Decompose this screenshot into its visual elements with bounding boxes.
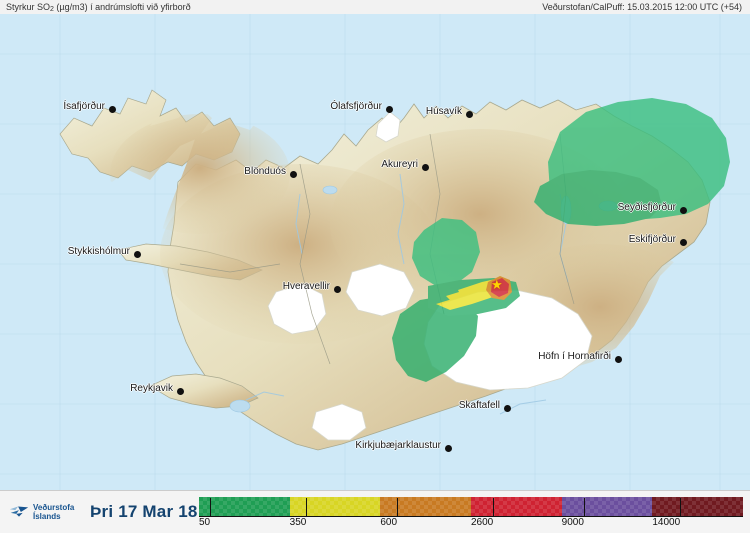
city-dot-icon <box>504 405 511 412</box>
so2-color-scale[interactable]: 503506002600900014000 <box>199 497 743 529</box>
city-label: Blönduós <box>244 166 286 177</box>
city-label: Reykjavik <box>130 383 173 394</box>
city-dot-icon <box>109 106 116 113</box>
city-dot-icon <box>386 106 393 113</box>
color-scale-axis: 503506002600900014000 <box>199 516 743 530</box>
model-run-info: Veðurstofan/CalPuff: 15.03.2015 12:00 UT… <box>542 0 742 14</box>
city-dot-icon <box>680 239 687 246</box>
scale-tick-mark <box>397 498 398 517</box>
scale-tick-mark <box>210 498 211 517</box>
city-label: Húsavík <box>426 106 462 117</box>
city-label: Ólafsfjörður <box>330 101 382 112</box>
city-label: Höfn í Hornafirði <box>538 351 611 362</box>
so2-forecast-map-page: Styrkur SO2 (µg/m3) í andrúmslofti við y… <box>0 0 750 532</box>
city-dot-icon <box>445 445 452 452</box>
color-band <box>471 497 562 516</box>
so2-subscript: 2 <box>50 6 54 13</box>
scale-tick-label: 9000 <box>562 517 584 528</box>
color-band <box>199 497 290 516</box>
city-label: Eskifjörður <box>629 234 676 245</box>
scale-tick-label: 350 <box>290 517 307 528</box>
city-label: Seyðisfjörður <box>618 202 676 213</box>
city-label: Stykkishólmur <box>68 246 130 257</box>
scale-tick-mark <box>493 498 494 517</box>
logo-line-2: Íslands <box>33 512 74 521</box>
color-band-strip <box>199 497 743 516</box>
city-dot-icon <box>177 388 184 395</box>
city-label: Kirkjubæjarklaustur <box>355 440 441 451</box>
color-band <box>290 497 381 516</box>
scale-tick-label: 2600 <box>471 517 493 528</box>
scale-tick-mark <box>306 498 307 517</box>
color-band <box>562 497 653 516</box>
header-bar: Styrkur SO2 (µg/m3) í andrúmslofti við y… <box>0 0 750 15</box>
city-label: Ísafjörður <box>63 101 105 112</box>
city-label: Hveravellir <box>283 281 330 292</box>
weather-arrow-icon <box>8 501 30 523</box>
scale-tick-mark <box>680 498 681 517</box>
city-dot-icon <box>290 171 297 178</box>
scale-tick-label: 50 <box>199 517 210 528</box>
logo-text: Veðurstofa Íslands <box>33 503 74 521</box>
city-dot-icon <box>134 251 141 258</box>
vedurstofa-logo[interactable]: Veðurstofa Íslands <box>8 499 86 525</box>
city-dot-icon <box>466 111 473 118</box>
logo-line-1: Veðurstofa <box>33 503 74 512</box>
scale-tick-label: 600 <box>380 517 397 528</box>
map-canvas[interactable]: ★ ÍsafjörðurÓlafsfjörðurHúsavíkBlönduósA… <box>0 14 750 490</box>
color-band <box>652 497 743 516</box>
city-dot-icon <box>422 164 429 171</box>
city-label: Akureyri <box>381 159 418 170</box>
color-band <box>380 497 471 516</box>
city-dot-icon <box>334 286 341 293</box>
footer-bar: Veðurstofa Íslands Þri 17 Mar 18:00 5035… <box>0 490 750 533</box>
scale-tick-mark <box>584 498 585 517</box>
city-dot-icon <box>615 356 622 363</box>
eruption-source-star-icon: ★ <box>491 278 503 291</box>
city-label: Skaftafell <box>459 400 500 411</box>
city-dot-icon <box>680 207 687 214</box>
scale-tick-label: 14000 <box>652 517 680 528</box>
